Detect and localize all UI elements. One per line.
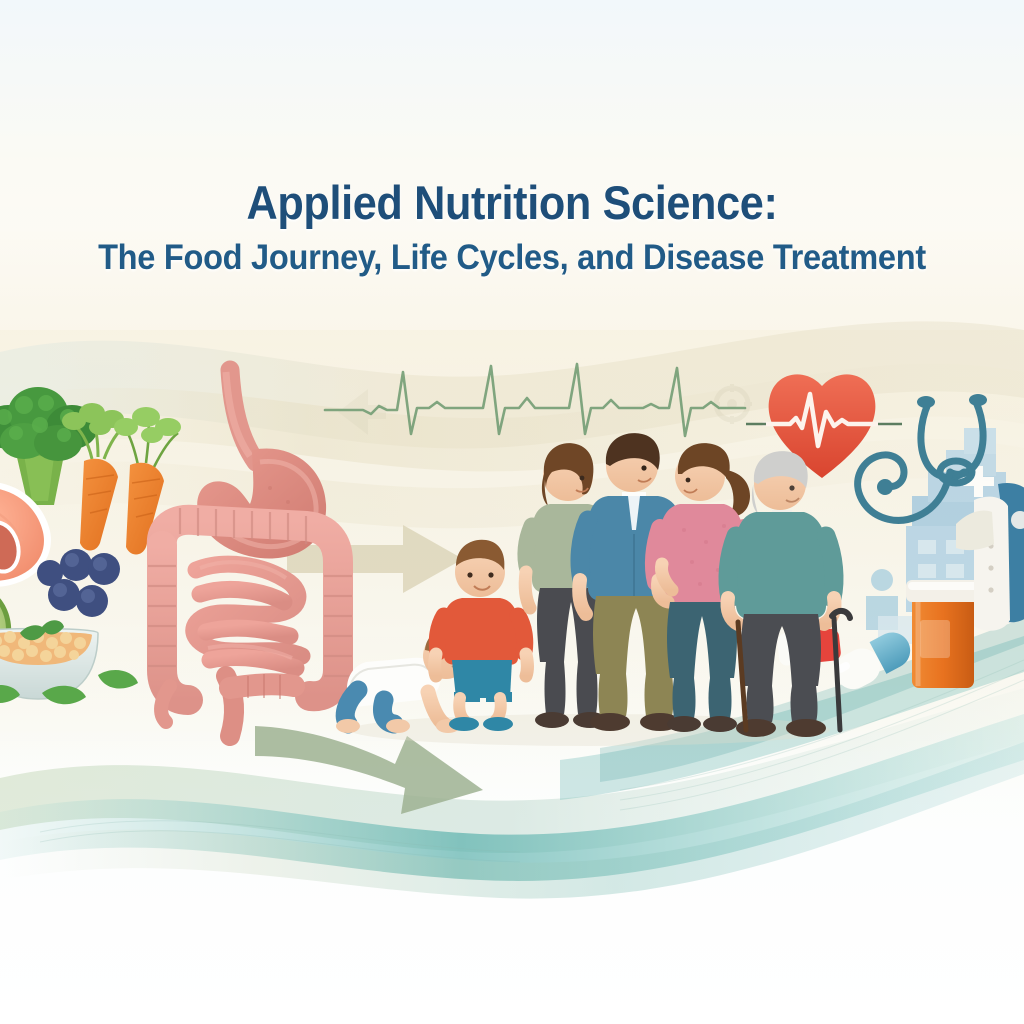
grain-bowl-icon xyxy=(0,620,138,704)
title-block: Applied Nutrition Science: The Food Jour… xyxy=(0,178,1024,277)
page-title: Applied Nutrition Science: xyxy=(41,178,983,227)
blueberries-icon xyxy=(37,549,120,617)
pill-bottle-icon xyxy=(906,580,980,688)
page-subtitle: The Food Journey, Life Cycles, and Disea… xyxy=(36,240,988,277)
esophagus-icon xyxy=(226,370,256,462)
figure-child-standing xyxy=(435,540,528,731)
capsule-icon xyxy=(829,626,917,695)
life-cycle-figures xyxy=(340,430,840,750)
small-intestine-icon xyxy=(194,564,302,668)
poster-canvas: Applied Nutrition Science: The Food Jour… xyxy=(0,0,1024,1024)
rectum-icon xyxy=(226,674,294,736)
background-bottom-wash xyxy=(0,724,1024,1024)
